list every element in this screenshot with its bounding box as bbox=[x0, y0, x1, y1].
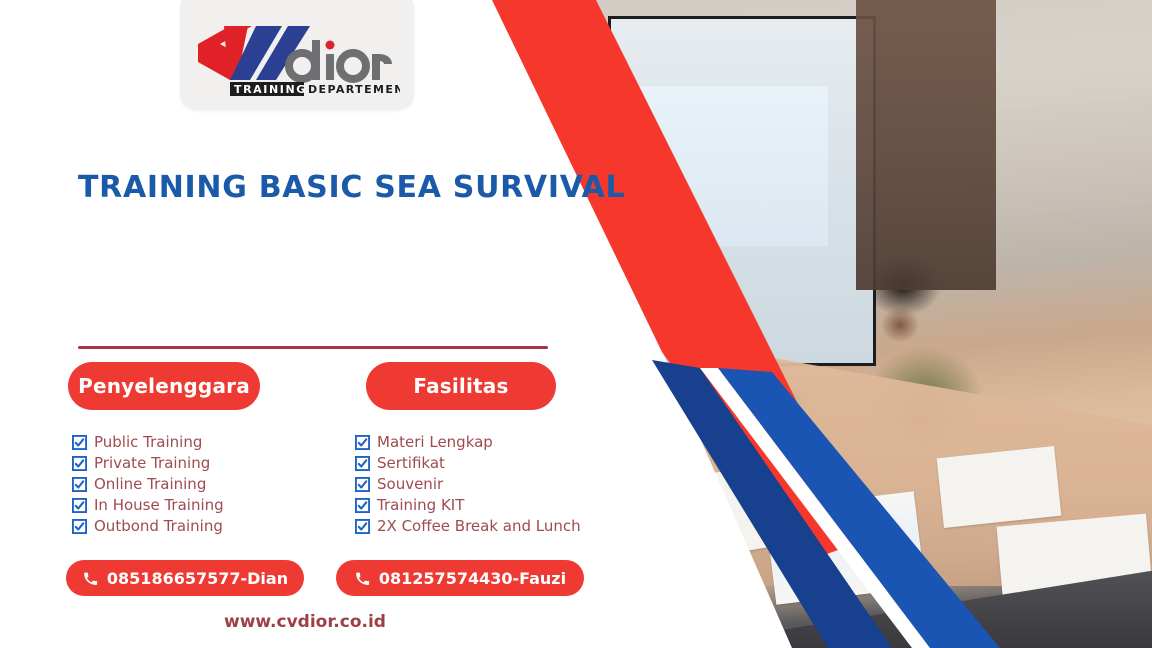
checkbox-checked-icon bbox=[355, 519, 370, 534]
contact-button-fauzi[interactable]: 081257574430-Fauzi bbox=[336, 560, 584, 596]
checkbox-checked-icon bbox=[355, 435, 370, 450]
section-divider bbox=[78, 346, 548, 349]
training-photo bbox=[480, 0, 1152, 648]
list-penyelenggara: Public Training Private Training Online … bbox=[72, 432, 224, 537]
logo-wordmark bbox=[289, 40, 392, 80]
list-item: Sertifikat bbox=[355, 453, 581, 474]
wall-panel bbox=[856, 0, 996, 290]
phone-icon bbox=[354, 570, 371, 587]
list-item-label: Souvenir bbox=[377, 474, 443, 495]
logo-tag-departement: DEPARTEMENT bbox=[308, 83, 400, 96]
list-item: Training KIT bbox=[355, 495, 581, 516]
projection-content bbox=[638, 86, 828, 246]
checkbox-checked-icon bbox=[72, 456, 87, 471]
list-item-label: Online Training bbox=[94, 474, 206, 495]
checkbox-checked-icon bbox=[72, 498, 87, 513]
poster-root: TRAINING DEPARTEMENT TRAINING BASIC SEA … bbox=[0, 0, 1152, 648]
checkbox-checked-icon bbox=[72, 435, 87, 450]
page-title: TRAINING BASIC SEA SURVIVAL bbox=[78, 170, 625, 205]
list-item: Materi Lengkap bbox=[355, 432, 581, 453]
list-item-label: In House Training bbox=[94, 495, 224, 516]
list-item: Public Training bbox=[72, 432, 224, 453]
checkbox-checked-icon bbox=[355, 456, 370, 471]
list-item-label: Outbond Training bbox=[94, 516, 223, 537]
phone-icon bbox=[82, 570, 99, 587]
cv-dior-logo: TRAINING DEPARTEMENT bbox=[190, 18, 400, 100]
contact-button-dian[interactable]: 085186657577-Dian bbox=[66, 560, 304, 596]
logo-tag-training: TRAINING bbox=[234, 83, 307, 96]
list-item: Outbond Training bbox=[72, 516, 224, 537]
list-item: Private Training bbox=[72, 453, 224, 474]
list-item-label: Training KIT bbox=[377, 495, 464, 516]
checkbox-checked-icon bbox=[355, 477, 370, 492]
table-paper bbox=[937, 446, 1062, 528]
list-item: 2X Coffee Break and Lunch bbox=[355, 516, 581, 537]
list-item-label: Public Training bbox=[94, 432, 202, 453]
heading-fasilitas: Fasilitas bbox=[366, 362, 556, 410]
list-item-label: Materi Lengkap bbox=[377, 432, 493, 453]
checkbox-checked-icon bbox=[72, 519, 87, 534]
checkbox-checked-icon bbox=[72, 477, 87, 492]
list-item-label: Private Training bbox=[94, 453, 210, 474]
list-item-label: Sertifikat bbox=[377, 453, 445, 474]
heading-penyelenggara: Penyelenggara bbox=[68, 362, 260, 410]
list-item: Souvenir bbox=[355, 474, 581, 495]
contact-label: 081257574430-Fauzi bbox=[379, 569, 566, 588]
website-url[interactable]: www.cvdior.co.id bbox=[0, 612, 610, 632]
contact-label: 085186657577-Dian bbox=[107, 569, 288, 588]
table-paper bbox=[765, 491, 926, 605]
list-fasilitas: Materi Lengkap Sertifikat Souvenir Train… bbox=[355, 432, 581, 537]
checkbox-checked-icon bbox=[355, 498, 370, 513]
list-item: Online Training bbox=[72, 474, 224, 495]
list-item-label: 2X Coffee Break and Lunch bbox=[377, 516, 581, 537]
list-item: In House Training bbox=[72, 495, 224, 516]
